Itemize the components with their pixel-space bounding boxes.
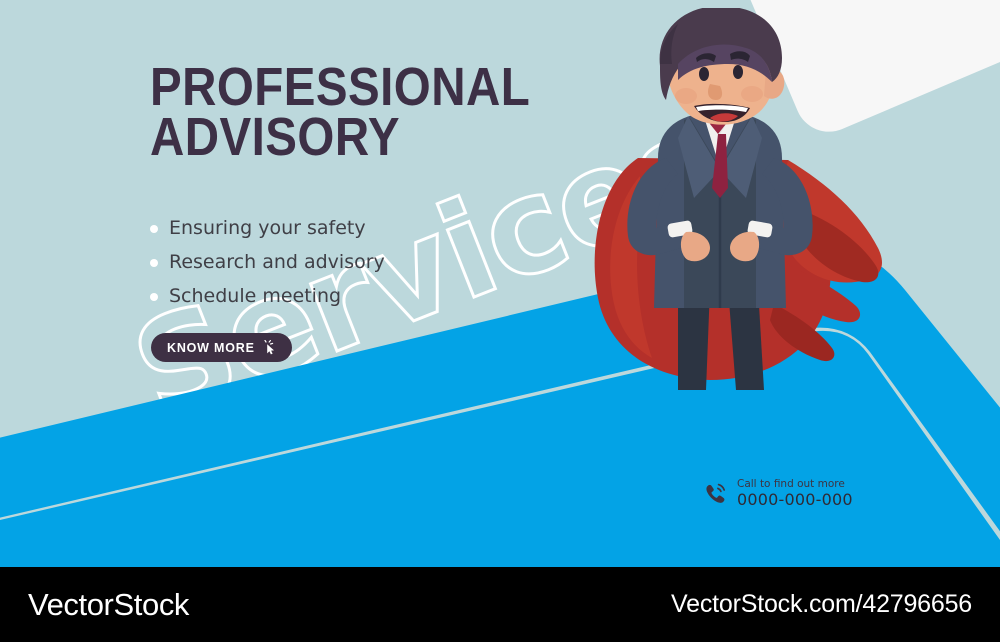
know-more-button[interactable]: KNOW MORE — [151, 333, 292, 362]
bullet-dot-icon — [150, 293, 158, 301]
vectorstock-url: VectorStock.com/42796656 — [671, 590, 972, 619]
vectorstock-brand: VectorStock — [28, 587, 189, 623]
headline-line-2: ADVISORY — [150, 113, 564, 163]
contact-number: 0000-000-000 — [737, 491, 853, 509]
list-item-label: Research and advisory — [169, 251, 385, 273]
businessman-superhero-character — [560, 8, 890, 408]
list-item: Schedule meeting — [150, 283, 530, 310]
feature-list: Ensuring your safety Research and adviso… — [150, 215, 530, 317]
headline-line-1: PROFESSIONAL — [150, 63, 564, 113]
phone-ringing-icon — [703, 481, 729, 507]
banner-artwork: Services — [0, 0, 1000, 567]
cursor-click-icon — [262, 340, 278, 356]
list-item: Research and advisory — [150, 249, 530, 276]
watermark-footer: VectorStock VectorStock.com/42796656 — [0, 567, 1000, 642]
know-more-label: KNOW MORE — [167, 341, 255, 355]
suit — [654, 102, 786, 308]
vectorstock-preview: Services — [0, 0, 1000, 642]
list-item: Ensuring your safety — [150, 215, 530, 242]
bullet-dot-icon — [150, 225, 158, 233]
bullet-dot-icon — [150, 259, 158, 267]
head — [660, 8, 785, 125]
list-item-label: Ensuring your safety — [169, 217, 366, 239]
contact-block[interactable]: Call to find out more 0000-000-000 — [703, 478, 853, 510]
list-item-label: Schedule meeting — [169, 285, 341, 307]
page-title: PROFESSIONAL ADVISORY — [150, 63, 564, 162]
